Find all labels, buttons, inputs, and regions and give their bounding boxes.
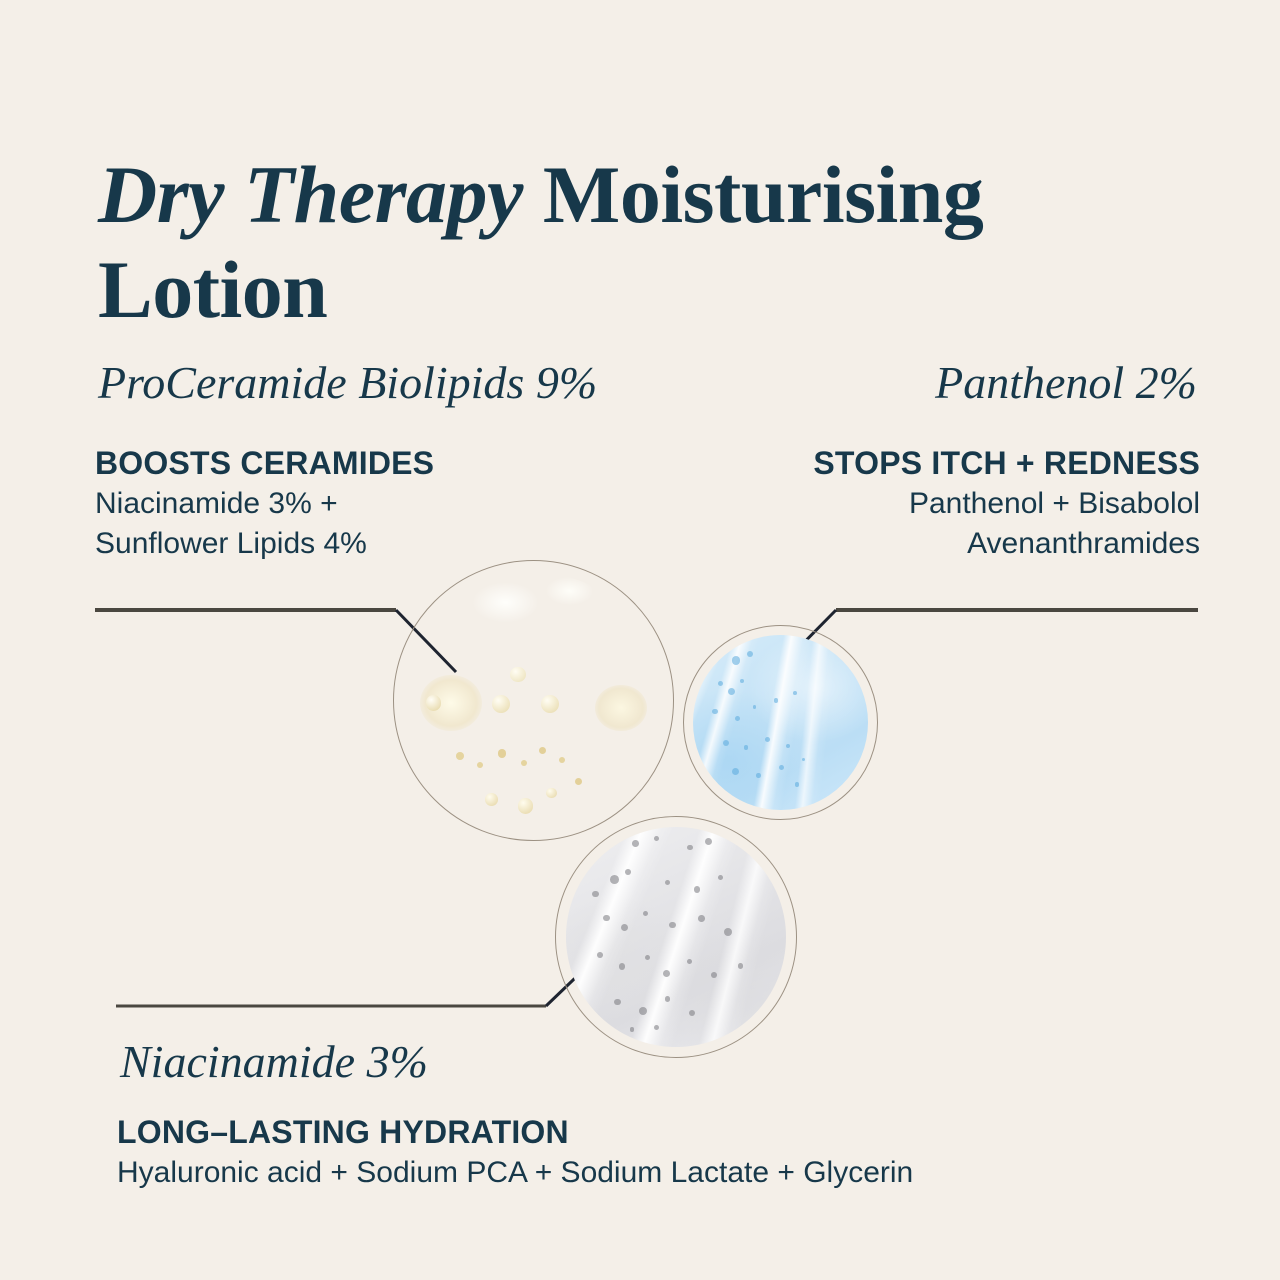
benefit-detail-panthenol-line-1: Panthenol + Bisabolol [640,484,1200,524]
benefit-label-panthenol: STOPS ITCH + REDNESS [640,443,1200,484]
benefit-detail-niacinamide-line-1: Hyaluronic acid + Sodium PCA + Sodium La… [117,1153,1117,1193]
swatch-ring-white-cream [555,816,797,1058]
swatch-golden-oil [393,560,674,841]
benefit-label-proceramide: BOOSTS CERAMIDES [95,443,615,484]
ingredient-heading-panthenol: Panthenol 2% [935,358,1197,409]
ingredient-block-panthenol: STOPS ITCH + REDNESS Panthenol + Bisabol… [640,443,1200,564]
benefit-detail-proceramide-line-2: Sunflower Lipids 4% [95,524,615,564]
connector-niacinamide [116,933,622,1006]
benefit-label-niacinamide: LONG–LASTING HYDRATION [117,1112,1117,1153]
ingredient-heading-niacinamide: Niacinamide 3% [120,1037,428,1088]
benefit-detail-panthenol-line-2: Avenanthramides [640,524,1200,564]
swatch-ring-blue-gel [683,625,878,820]
ingredient-block-niacinamide: LONG–LASTING HYDRATION Hyaluronic acid +… [117,1112,1117,1193]
page-title: Dry Therapy Moisturising Lotion [98,147,1118,337]
page-title-italic: Dry Therapy [98,149,523,240]
benefit-detail-proceramide-line-1: Niacinamide 3% + [95,484,615,524]
ingredient-heading-proceramide: ProCeramide Biolipids 9% [98,358,597,409]
ingredient-block-proceramide: BOOSTS CERAMIDES Niacinamide 3% + Sunflo… [95,443,615,564]
product-ingredient-infographic: Dry Therapy Moisturising Lotion [0,0,1280,1280]
swatch-ring-golden-oil [393,560,674,841]
swatch-blue-gel [683,625,878,820]
swatch-white-cream [555,816,797,1058]
